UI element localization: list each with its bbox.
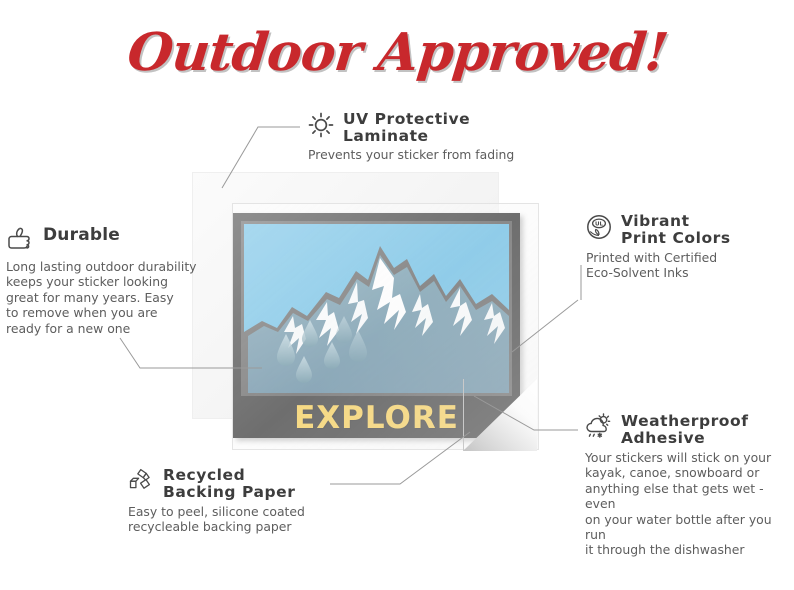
feature-uv-title: UV Protective Laminate (343, 110, 470, 144)
cloud-sun-rain-snow-icon (584, 412, 614, 442)
feature-vibrant-title: Vibrant Print Colors (621, 212, 731, 246)
feature-vibrant-print-colors: UL Vibrant Print Colors Printed with Cer… (584, 212, 789, 281)
infographic-canvas: Outdoor Approved! (0, 0, 794, 590)
feature-durable: Durable Long lasting outdoor durability … (6, 224, 198, 336)
feature-weather-header: Weatherproof Adhesive (584, 412, 794, 446)
feature-weather-title: Weatherproof Adhesive (621, 412, 749, 446)
leader-line-recycled (330, 432, 470, 484)
feature-recycled-header: Recycled Backing Paper (126, 466, 336, 500)
feature-vibrant-body: Printed with Certified Eco-Solvent Inks (586, 250, 789, 281)
feature-durable-header: Durable (6, 224, 198, 254)
feature-vibrant-header: UL Vibrant Print Colors (584, 212, 789, 246)
feature-recycled-body: Easy to peel, silicone coated recycleabl… (128, 504, 336, 535)
leader-line-durable (120, 338, 262, 368)
feature-uv-body: Prevents your sticker from fading (308, 147, 536, 162)
feature-uv-header: UV Protective Laminate (306, 110, 536, 144)
recycle-icon (126, 466, 156, 496)
feature-recycled-title: Recycled Backing Paper (163, 466, 295, 500)
leader-line-vibrant-2 (512, 300, 578, 352)
svg-text:UL: UL (595, 222, 604, 228)
feature-durable-title: Durable (43, 224, 120, 245)
thumbs-up-icon (6, 224, 36, 254)
leader-line-weather (474, 396, 578, 430)
feature-recycled-backing-paper: Recycled Backing Paper Easy to peel, sil… (126, 466, 336, 535)
feature-durable-body: Long lasting outdoor durability keeps yo… (6, 259, 198, 336)
leader-line-uv (222, 127, 300, 188)
feature-weatherproof-adhesive: Weatherproof Adhesive Your stickers will… (584, 412, 794, 558)
ul-certified-icon: UL (584, 212, 614, 242)
feature-uv-protective-laminate: UV Protective Laminate Prevents your sti… (306, 110, 536, 162)
sun-icon (306, 110, 336, 140)
feature-weather-body: Your stickers will stick on your kayak, … (585, 450, 794, 558)
